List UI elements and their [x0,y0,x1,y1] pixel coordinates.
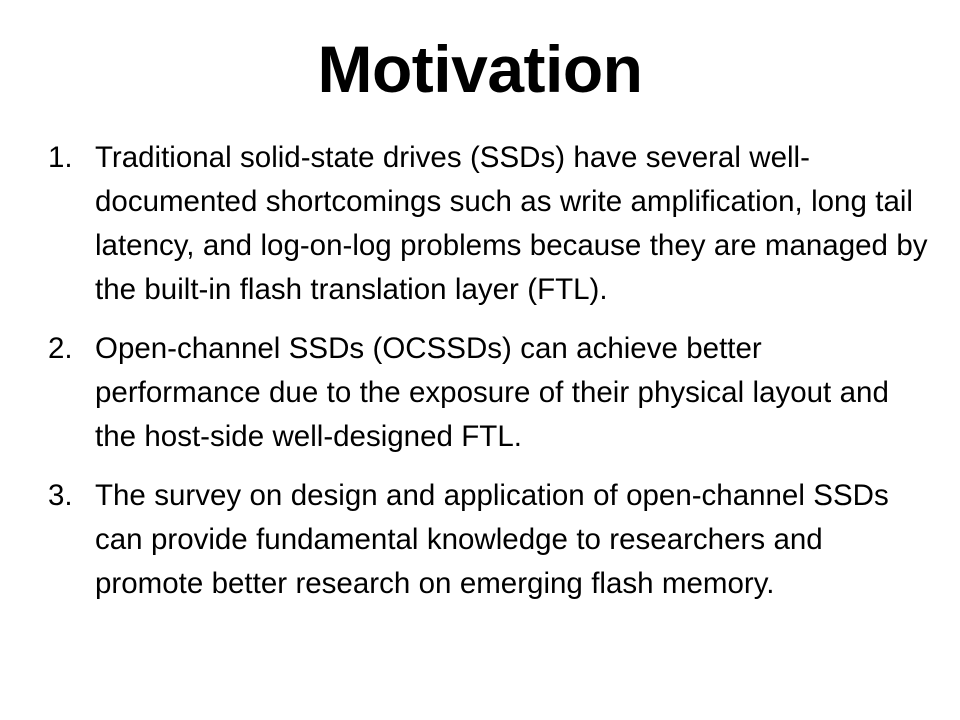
list-item: 3. The survey on design and application … [48,474,928,606]
list-item-text: Open-channel SSDs (OCSSDs) can achieve b… [95,327,928,459]
list-item: 2. Open-channel SSDs (OCSSDs) can achiev… [48,327,928,459]
list-item-number: 3. [48,474,95,518]
list-item-number: 2. [48,327,95,371]
list-item-text: The survey on design and application of … [95,474,928,606]
presentation-slide: Motivation 1. Traditional solid-state dr… [0,0,960,720]
list-item-text: Traditional solid-state drives (SSDs) ha… [95,136,928,312]
numbered-list: 1. Traditional solid-state drives (SSDs)… [48,136,928,606]
page-title: Motivation [0,36,960,102]
list-item: 1. Traditional solid-state drives (SSDs)… [48,136,928,312]
list-item-number: 1. [48,136,95,180]
